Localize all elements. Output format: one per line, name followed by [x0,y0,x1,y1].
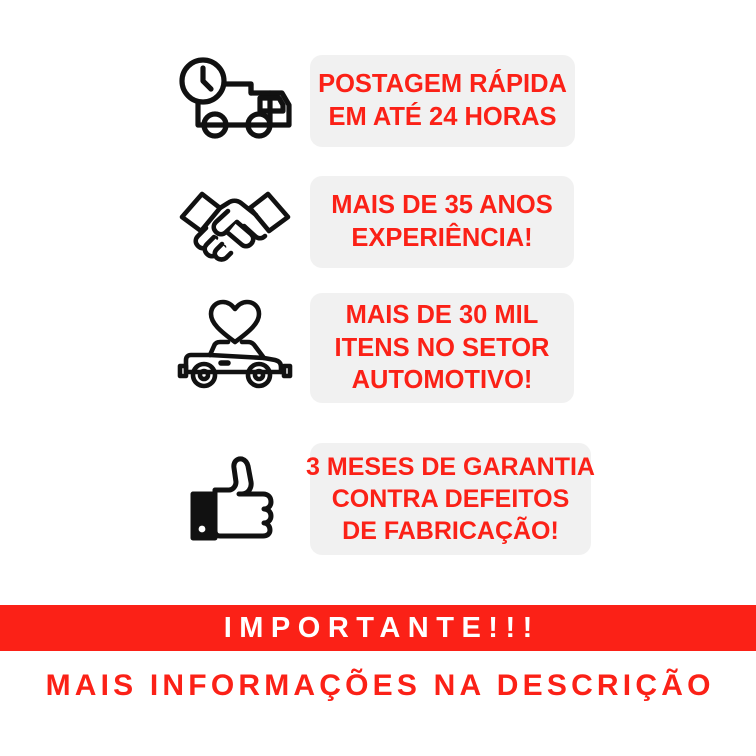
handshake-icon [160,172,310,272]
promo-banner-page: POSTAGEM RÁPIDA EM ATÉ 24 HORAS [0,0,756,756]
benefit-text-chip: MAIS DE 35 ANOS EXPERIÊNCIA! [310,176,574,268]
chip-line: POSTAGEM RÁPIDA [318,68,567,101]
benefit-row: MAIS DE 35 ANOS EXPERIÊNCIA! [160,172,610,272]
benefits-list: POSTAGEM RÁPIDA EM ATÉ 24 HORAS [0,0,756,596]
important-banner: IMPORTANTE!!! [0,605,756,651]
chip-line: AUTOMOTIVO! [352,364,533,397]
important-banner-text: IMPORTANTE!!! [216,612,540,645]
benefit-text-chip: POSTAGEM RÁPIDA EM ATÉ 24 HORAS [310,55,575,147]
chip-line: MAIS DE 30 MIL [346,299,539,332]
benefit-row: 3 MESES DE GARANTIA CONTRA DEFEITOS DE F… [160,440,610,558]
description-note-text: MAIS INFORMAÇÕES NA DESCRIÇÃO [41,669,714,703]
description-note: MAIS INFORMAÇÕES NA DESCRIÇÃO [0,660,756,712]
chip-line: EM ATÉ 24 HORAS [328,101,556,134]
benefit-row: MAIS DE 30 MIL ITENS NO SETOR AUTOMOTIVO… [160,292,610,404]
delivery-truck-clock-icon [160,46,310,156]
benefit-text-chip: MAIS DE 30 MIL ITENS NO SETOR AUTOMOTIVO… [310,293,574,403]
chip-line: MAIS DE 35 ANOS [331,189,553,222]
chip-line: EXPERIÊNCIA! [351,222,532,255]
chip-line: CONTRA DEFEITOS [332,483,570,515]
chip-line: DE FABRICAÇÃO! [342,515,559,547]
chip-line: 3 MESES DE GARANTIA [306,451,595,483]
chip-line: ITENS NO SETOR [335,332,550,365]
benefit-row: POSTAGEM RÁPIDA EM ATÉ 24 HORAS [160,46,610,156]
thumbs-up-icon [160,440,310,558]
car-heart-icon [160,292,310,404]
benefit-text-chip: 3 MESES DE GARANTIA CONTRA DEFEITOS DE F… [310,443,591,555]
